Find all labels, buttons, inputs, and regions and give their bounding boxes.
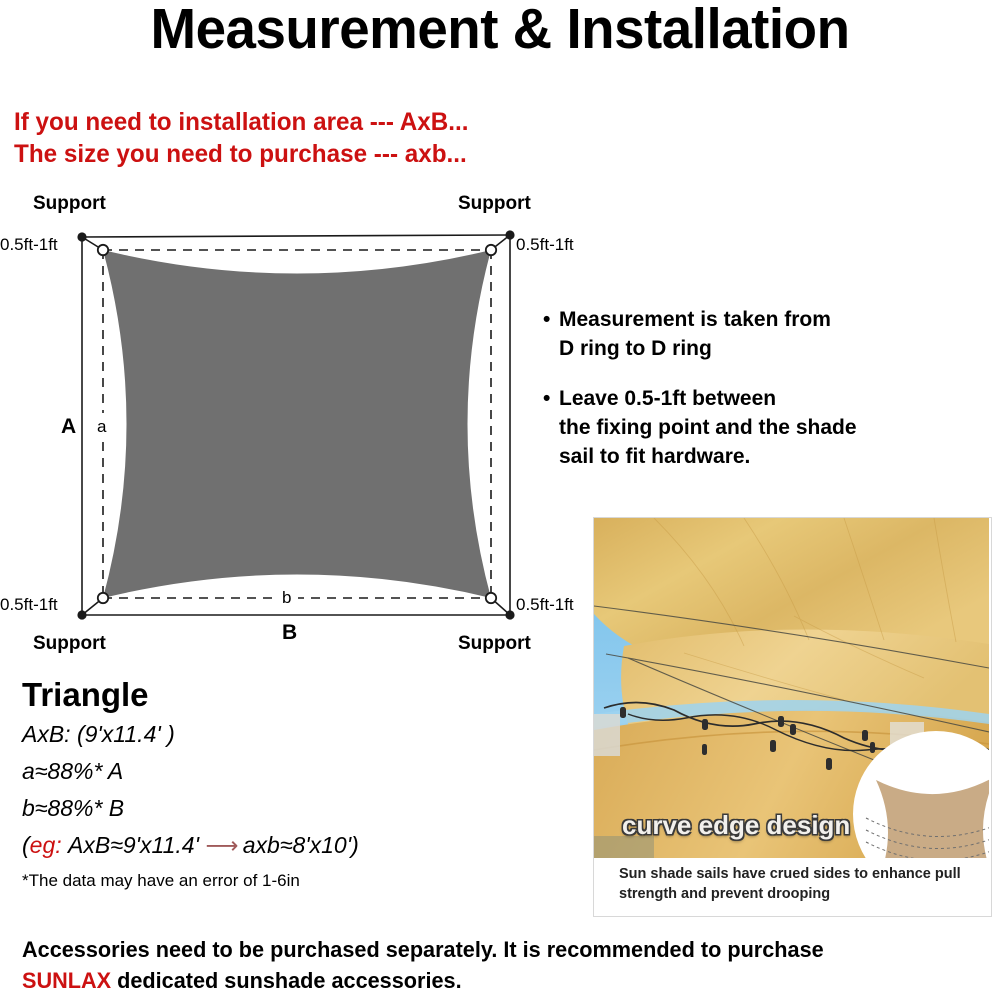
example-left-value: AxB≈9'x11.4' (68, 832, 199, 858)
shade-sail-diagram: Support Support Support Support 0.5ft-1f… (0, 185, 580, 665)
triangle-tolerance-note: *The data may have an error of 1-6in (22, 868, 582, 894)
photo-caption-box: Sun shade sails have crued sides to enha… (594, 858, 989, 915)
page-title: Measurement & Installation (20, 0, 980, 60)
gap-label-bottom-right: 0.5ft-1ft (516, 595, 574, 615)
accessories-footer-note: Accessories need to be purchased separat… (22, 934, 997, 996)
instruction-bullet-list: • Measurement is taken from D ring to D … (543, 305, 993, 492)
support-label-bottom-right: Support (458, 633, 531, 655)
shade-sail-photo: curve edge design (594, 518, 989, 858)
bullet-item-measurement: • Measurement is taken from D ring to D … (543, 305, 993, 363)
shade-sail-shape (103, 250, 491, 598)
intro-line-2: The size you need to purchase --- axb... (14, 138, 469, 170)
bullet-item-clearance: • Leave 0.5-1ft between the fixing point… (543, 384, 993, 471)
intro-red-text: If you need to installation area --- AxB… (14, 106, 483, 170)
bullet-dot-icon: • (543, 305, 559, 363)
gap-label-bottom-left: 0.5ft-1ft (0, 595, 58, 615)
footer-line-2: SUNLAX dedicated sunshade accessories. (22, 965, 982, 996)
gap-label-top-left: 0.5ft-1ft (0, 235, 58, 255)
support-label-top-right: Support (458, 193, 531, 215)
dimension-label-A: A (61, 415, 76, 439)
triangle-line-a: a≈88%* A (22, 753, 582, 790)
triangle-example-line: (eg: AxB≈9'x11.4' ⟶ axb≈8'x10') (22, 827, 582, 864)
example-right-value: axb≈8'x10') (243, 832, 359, 858)
triangle-heading: Triangle (22, 676, 582, 714)
photo-illustration (594, 518, 989, 858)
footer-line-1: Accessories need to be purchased separat… (22, 934, 982, 965)
dimension-label-B: B (282, 621, 297, 645)
example-eg-label: eg: (30, 832, 62, 858)
support-label-top-left: Support (33, 193, 106, 215)
intro-line-1: If you need to installation area --- AxB… (14, 106, 469, 138)
triangle-sizing-block: Triangle AxB: (9'x11.4' ) a≈88%* A b≈88%… (22, 676, 582, 894)
photo-caption-text: Sun shade sails have crued sides to enha… (619, 864, 969, 904)
support-label-bottom-left: Support (33, 633, 106, 655)
arrow-right-icon: ⟶ (205, 832, 236, 858)
bullet-dot-icon: • (543, 384, 559, 471)
bullet-text-clearance: Leave 0.5-1ft between the fixing point a… (559, 384, 993, 471)
brand-name: SUNLAX (22, 968, 111, 993)
gap-label-top-right: 0.5ft-1ft (516, 235, 574, 255)
bullet-text-measurement: Measurement is taken from D ring to D ri… (559, 305, 993, 363)
product-photo-panel: curve edge design Sun shade sails have c… (593, 517, 992, 917)
example-open-paren: ( (22, 832, 30, 858)
triangle-line-b: b≈88%* B (22, 790, 582, 827)
dimension-label-a: a (97, 417, 106, 437)
dimension-label-b: b (282, 588, 291, 608)
curve-edge-design-label: curve edge design (622, 810, 850, 841)
footer-line-2-text: dedicated sunshade accessories. (111, 968, 462, 993)
triangle-line-axb: AxB: (9'x11.4' ) (22, 716, 582, 753)
